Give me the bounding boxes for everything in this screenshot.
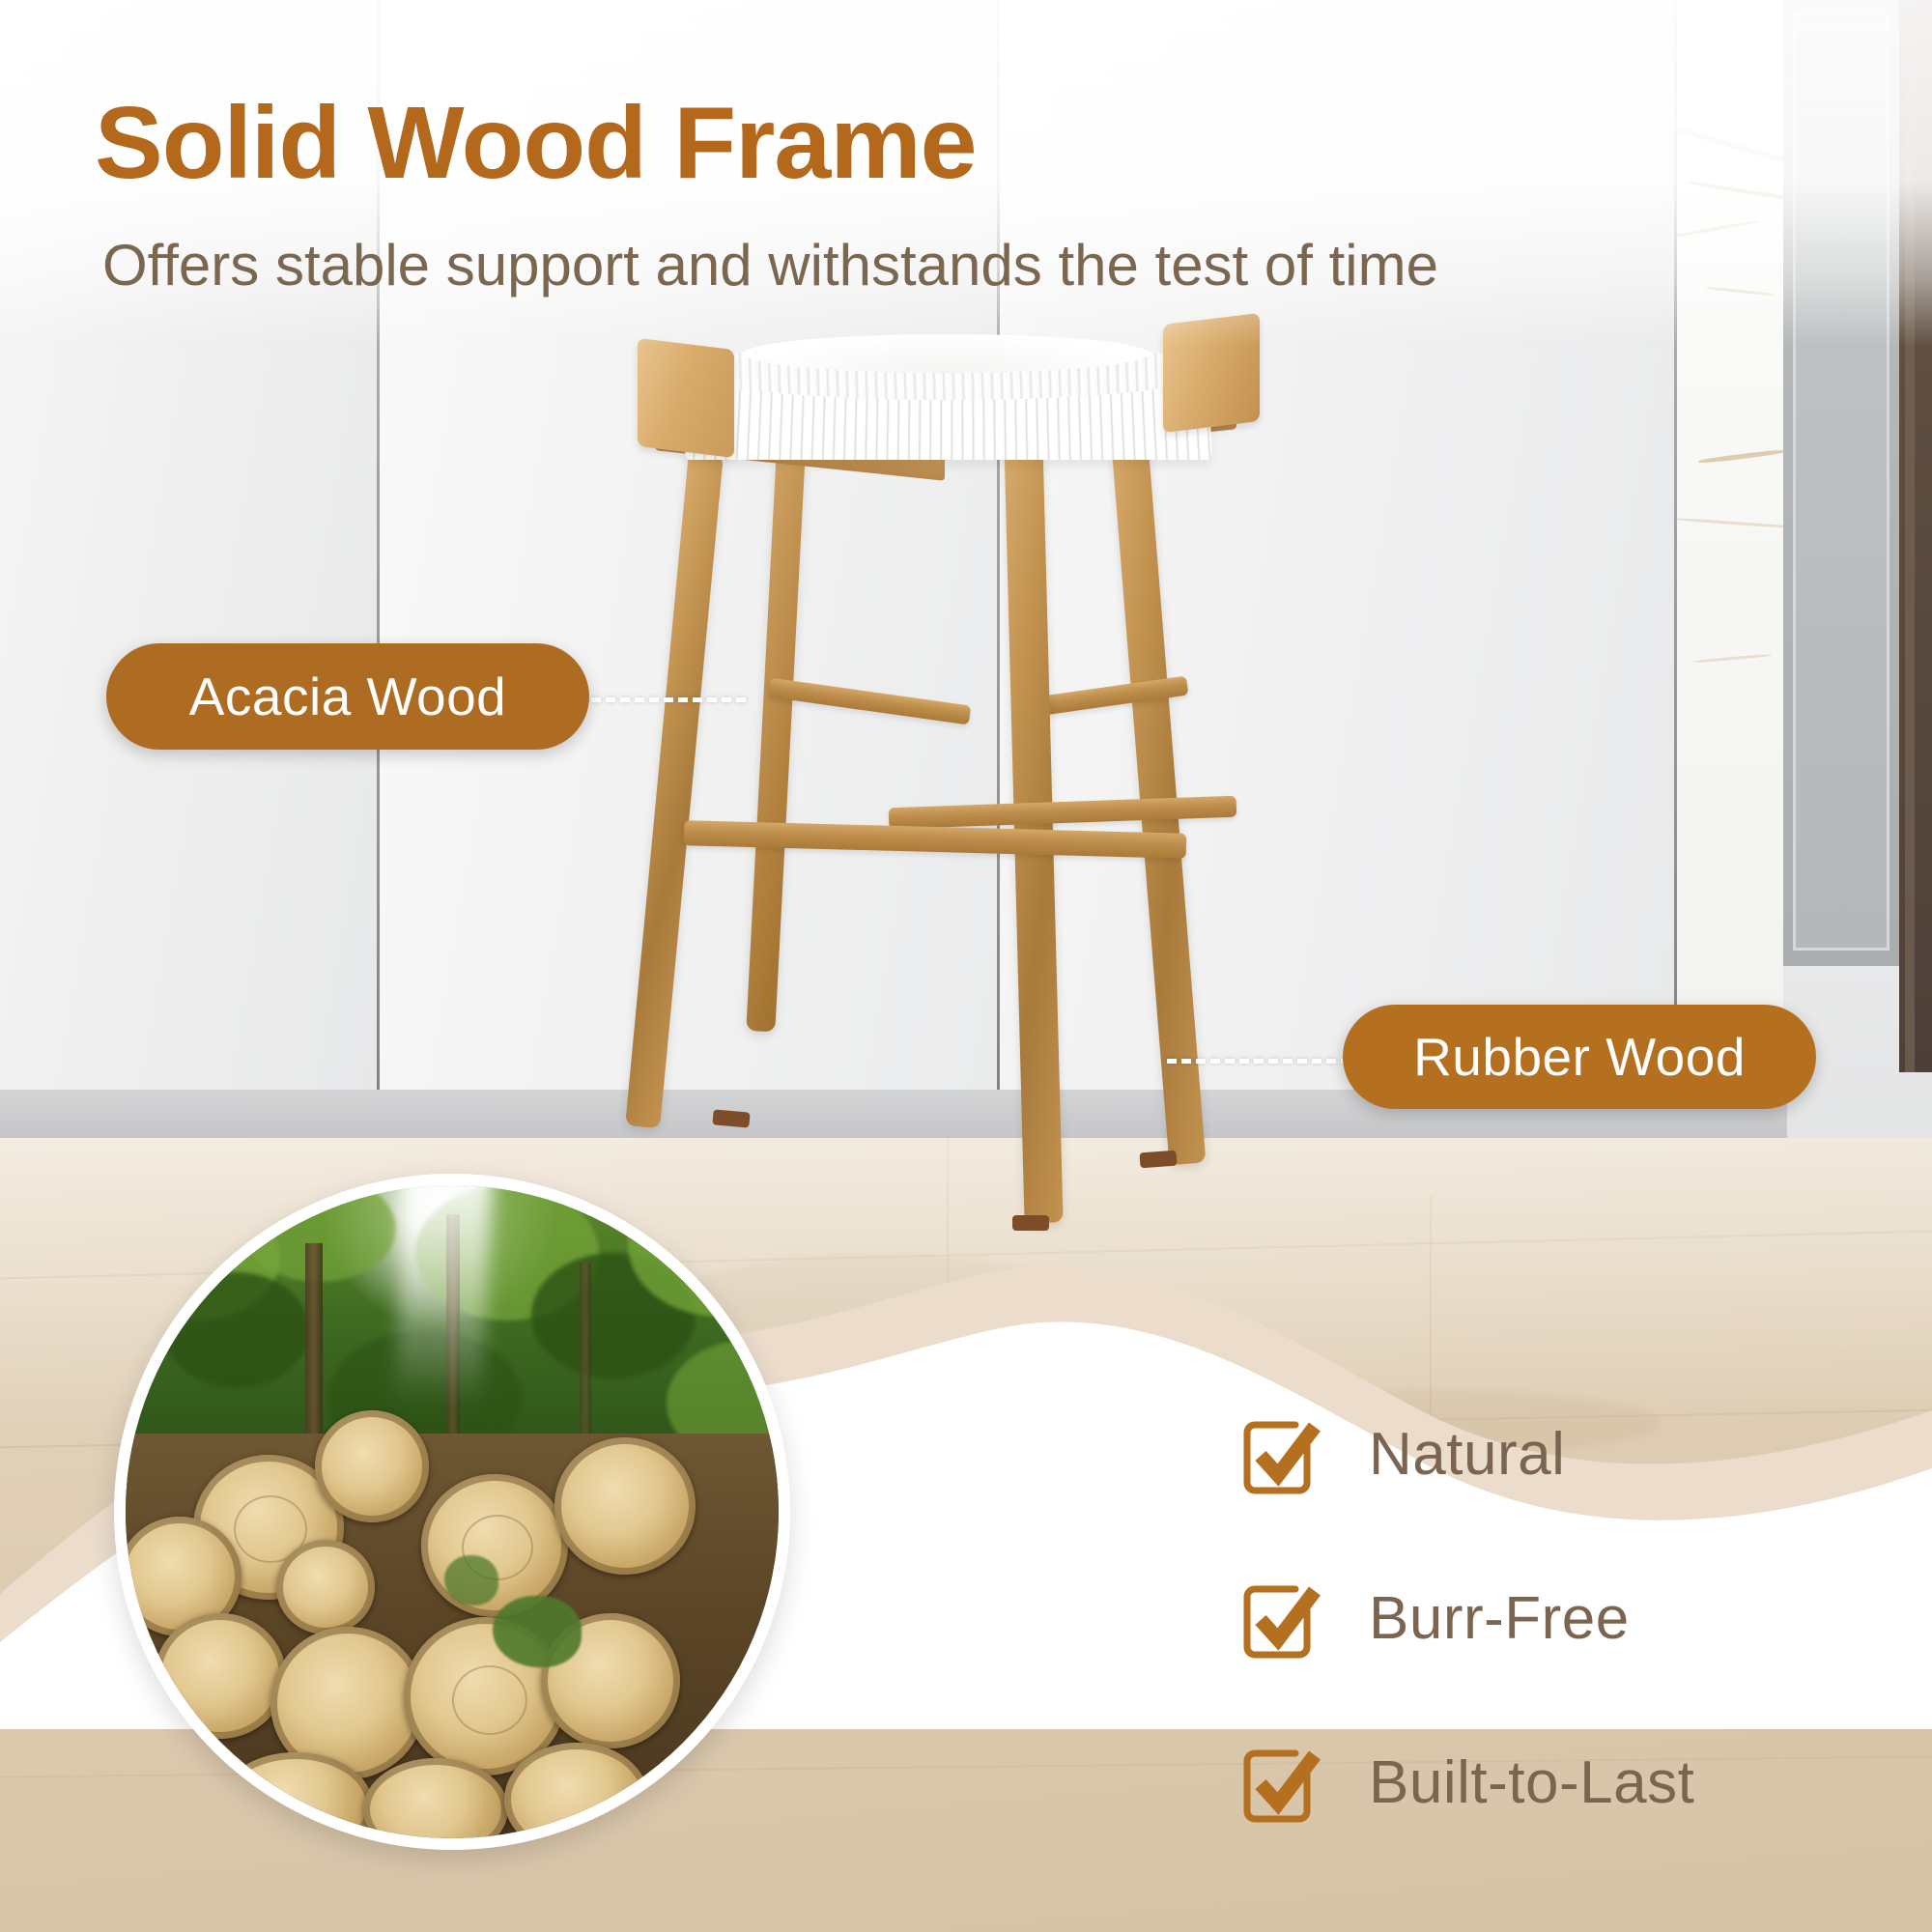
feature-label-natural: Natural	[1369, 1420, 1565, 1489]
checkbox-check-icon	[1241, 1577, 1322, 1659]
checkbox-check-icon	[1241, 1742, 1322, 1823]
stool-stretcher-lower-back	[889, 796, 1237, 830]
callout-badge-acacia-wood[interactable]: Acacia Wood	[106, 643, 589, 750]
stool-stretcher-upper-left	[768, 677, 972, 724]
bar-stool	[599, 348, 1294, 1323]
stool-seat-rail-left	[638, 338, 734, 458]
product-feature-poster: Acacia Wood Rubber Wood Natural Burr-Fre…	[0, 0, 1932, 1932]
page-title: Solid Wood Frame	[95, 85, 977, 202]
callout-badge-rubber-wood[interactable]: Rubber Wood	[1343, 1005, 1816, 1109]
stool-leg-back-left	[746, 452, 805, 1033]
checkbox-check-icon	[1241, 1413, 1322, 1494]
callout-label-acacia: Acacia Wood	[189, 666, 507, 727]
callout-label-rubber: Rubber Wood	[1413, 1026, 1746, 1088]
callout-connector-rubber	[1167, 1059, 1350, 1064]
page-subtitle: Offers stable support and withstands the…	[102, 232, 1438, 298]
feature-checklist: Natural Burr-Free Built-to-Last	[1241, 1372, 1879, 1864]
feature-item-burr-free: Burr-Free	[1241, 1536, 1879, 1700]
feature-item-natural: Natural	[1241, 1372, 1879, 1536]
stacked-logs	[126, 1434, 779, 1838]
callout-connector-acacia	[591, 697, 746, 702]
feature-item-built-to-last: Built-to-Last	[1241, 1700, 1879, 1864]
timber-logs-inset-photo	[114, 1174, 790, 1850]
stool-leg-front-left	[625, 452, 724, 1128]
feature-label-burr-free: Burr-Free	[1369, 1584, 1630, 1653]
feature-label-built-to-last: Built-to-Last	[1369, 1748, 1694, 1817]
